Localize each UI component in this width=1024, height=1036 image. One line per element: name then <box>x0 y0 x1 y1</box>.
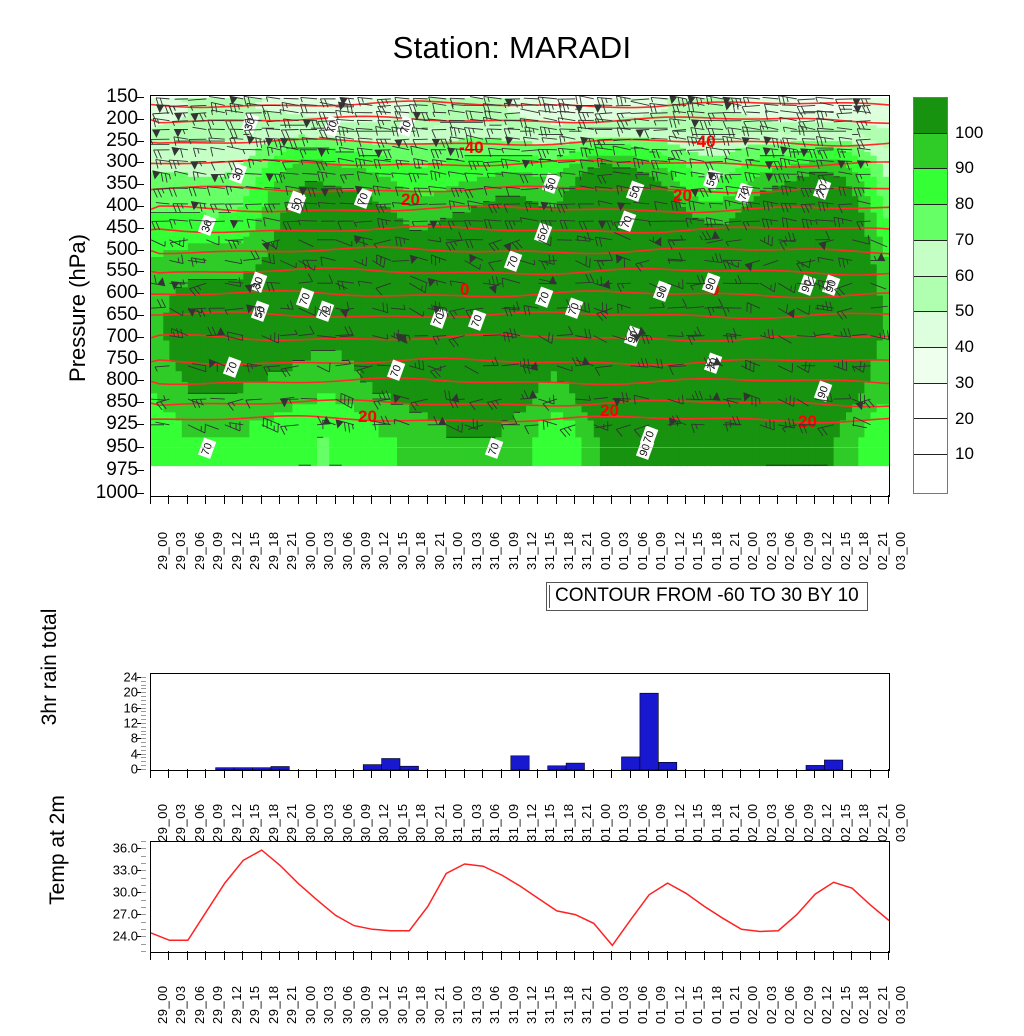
humidity-shade-cell <box>329 272 336 281</box>
humidity-shade-cell <box>280 287 287 296</box>
humidity-shade-cell <box>280 350 287 361</box>
humidity-shade-cell <box>317 279 324 288</box>
humidity-shade-cell <box>336 196 343 202</box>
humidity-shade-cell <box>477 237 484 245</box>
humidity-shade-cell <box>176 404 183 413</box>
humidity-shade-cell <box>415 322 422 332</box>
humidity-shade-cell <box>231 296 238 305</box>
humidity-shade-cell <box>538 437 545 466</box>
humidity-shade-cell <box>385 437 392 466</box>
humidity-shade-cell <box>452 257 459 265</box>
humidity-shade-cell <box>582 196 589 202</box>
humidity-shade-cell <box>249 224 256 231</box>
humidity-shade-cell <box>471 382 478 394</box>
humidity-shade-cell <box>495 371 502 383</box>
humidity-shade-cell <box>428 404 435 413</box>
humidity-shade-cell <box>219 196 226 202</box>
humidity-shade-cell <box>465 264 472 272</box>
humidity-shade-cell <box>446 230 453 237</box>
humidity-shade-cell <box>489 421 496 439</box>
humidity-shade-cell <box>440 341 447 352</box>
humidity-shade-cell <box>397 264 404 272</box>
humidity-shade-cell <box>348 341 355 352</box>
humidity-shade-cell <box>342 412 349 421</box>
humidity-shade-cell <box>163 196 170 202</box>
humidity-shade-cell <box>409 243 416 251</box>
humidity-shade-cell <box>231 331 238 342</box>
humidity-shade-cell <box>299 350 306 361</box>
humidity-shade-cell <box>526 341 533 352</box>
humidity-shade-cell <box>434 296 441 305</box>
humidity-shade-cell <box>366 250 373 258</box>
humidity-shade-cell <box>625 371 632 383</box>
humidity-shade-cell <box>483 382 490 394</box>
humidity-shade-cell <box>606 213 613 220</box>
humidity-shade-cell <box>354 213 361 220</box>
humidity-shade-cell <box>329 213 336 220</box>
humidity-shade-cell <box>348 272 355 281</box>
humidity-shade-cell <box>495 213 502 220</box>
humidity-shade-cell <box>459 257 466 265</box>
humidity-shade-cell <box>483 230 490 237</box>
humidity-shade-cell <box>286 296 293 305</box>
humidity-shade-cell <box>348 437 355 466</box>
humidity-shade-cell <box>169 230 176 237</box>
humidity-shade-cell <box>274 196 281 202</box>
humidity-shade-cell <box>280 279 287 288</box>
humidity-shade-cell <box>329 218 336 225</box>
humidity-shade-cell <box>280 243 287 251</box>
humidity-shade-cell <box>286 437 293 466</box>
humidity-shade-cell <box>354 322 361 332</box>
humidity-shade-cell <box>403 371 410 383</box>
humidity-shade-cell <box>569 218 576 225</box>
humidity-shade-cell <box>569 341 576 352</box>
humidity-shade-cell <box>372 230 379 237</box>
humidity-shade-cell <box>520 296 527 305</box>
humidity-shade-cell <box>403 382 410 394</box>
humidity-shade-cell <box>323 404 330 413</box>
humidity-shade-cell <box>397 421 404 439</box>
humidity-shade-cell <box>594 437 601 466</box>
humidity-shade-cell <box>280 230 287 237</box>
humidity-shade-cell <box>397 296 404 305</box>
humidity-shade-cell <box>231 382 238 394</box>
humidity-shade-cell <box>557 341 564 352</box>
humidity-shade-cell <box>569 257 576 265</box>
humidity-shade-cell <box>176 371 183 383</box>
humidity-shade-cell <box>151 304 158 314</box>
humidity-shade-cell <box>569 230 576 237</box>
humidity-shade-cell <box>157 371 164 383</box>
humidity-shade-cell <box>336 202 343 208</box>
humidity-shade-cell <box>219 243 226 251</box>
humidity-shade-cell <box>169 361 176 372</box>
humidity-shade-cell <box>372 437 379 466</box>
humidity-shade-cell <box>237 296 244 305</box>
humidity-shade-cell <box>182 296 189 305</box>
humidity-shade-cell <box>502 322 509 332</box>
humidity-shade-cell <box>311 382 318 394</box>
humidity-shade-cell <box>428 341 435 352</box>
humidity-shade-cell <box>655 224 662 231</box>
humidity-shade-cell <box>514 393 521 405</box>
humidity-shade-cell <box>551 264 558 272</box>
humidity-shade-cell <box>538 313 545 323</box>
humidity-shade-cell <box>655 350 662 361</box>
humidity-shade-cell <box>655 250 662 258</box>
humidity-shade-cell <box>575 243 582 251</box>
humidity-shade-cell <box>415 371 422 383</box>
humidity-shade-cell <box>262 404 269 413</box>
humidity-shade-cell <box>514 243 521 251</box>
humidity-shade-cell <box>256 382 263 394</box>
humidity-shade-cell <box>538 350 545 361</box>
humidity-shade-cell <box>422 350 429 361</box>
humidity-shade-cell <box>231 279 238 288</box>
humidity-shade-cell <box>354 279 361 288</box>
humidity-shade-cell <box>661 412 668 421</box>
humidity-shade-cell <box>434 382 441 394</box>
humidity-shade-cell <box>231 313 238 323</box>
humidity-shade-cell <box>643 237 650 245</box>
humidity-shade-cell <box>354 296 361 305</box>
humidity-shade-cell <box>372 279 379 288</box>
humidity-shade-cell <box>422 322 429 332</box>
humidity-shade-cell <box>649 412 656 421</box>
humidity-shade-cell <box>655 404 662 413</box>
humidity-shade-cell <box>409 371 416 383</box>
humidity-shade-cell <box>477 287 484 296</box>
humidity-shade-cell <box>440 230 447 237</box>
humidity-shade-cell <box>618 350 625 361</box>
humidity-shade-cell <box>169 437 176 466</box>
humidity-shade-cell <box>532 196 539 202</box>
humidity-shade-cell <box>631 296 638 305</box>
humidity-shade-cell <box>409 213 416 220</box>
humidity-shade-cell <box>495 421 502 439</box>
humidity-shade-cell <box>618 196 625 202</box>
humidity-shade-cell <box>151 421 158 439</box>
humidity-shade-cell <box>428 382 435 394</box>
humidity-shade-cell <box>489 230 496 237</box>
humidity-shade-cell <box>649 257 656 265</box>
humidity-shade-cell <box>206 313 213 323</box>
humidity-shade-cell <box>231 257 238 265</box>
humidity-shade-cell <box>428 230 435 237</box>
humidity-shade-cell <box>606 322 613 332</box>
humidity-shade-cell <box>612 207 619 214</box>
humidity-shade-cell <box>582 243 589 251</box>
humidity-shade-cell <box>366 371 373 383</box>
humidity-shade-cell <box>305 322 312 332</box>
humidity-shade-cell <box>385 230 392 237</box>
humidity-shade-cell <box>354 331 361 342</box>
humidity-shade-cell <box>483 287 490 296</box>
humidity-shade-cell <box>366 279 373 288</box>
humidity-shade-cell <box>415 404 422 413</box>
humidity-shade-cell <box>360 279 367 288</box>
humidity-shade-cell <box>366 393 373 405</box>
humidity-shade-cell <box>569 437 576 466</box>
humidity-shade-cell <box>237 243 244 251</box>
humidity-shade-cell <box>452 322 459 332</box>
humidity-shade-cell <box>182 224 189 231</box>
humidity-shade-cell <box>600 371 607 383</box>
humidity-shade-cell <box>600 437 607 466</box>
humidity-shade-cell <box>409 313 416 323</box>
humidity-shade-cell <box>366 313 373 323</box>
humidity-shade-cell <box>213 350 220 361</box>
humidity-shade-cell <box>354 272 361 281</box>
y-tick <box>136 493 144 494</box>
humidity-shade-cell <box>631 437 638 466</box>
humidity-shade-cell <box>336 341 343 352</box>
humidity-shade-cell <box>508 404 515 413</box>
humidity-shade-cell <box>465 213 472 220</box>
humidity-shade-cell <box>176 272 183 281</box>
humidity-shade-cell <box>188 243 195 251</box>
humidity-shade-cell <box>508 322 515 332</box>
humidity-shade-cell <box>557 313 564 323</box>
humidity-shade-cell <box>311 257 318 265</box>
humidity-shade-cell <box>348 371 355 383</box>
humidity-shade-cell <box>588 213 595 220</box>
humidity-shade-cell <box>422 237 429 245</box>
humidity-shade-cell <box>403 313 410 323</box>
humidity-shade-cell <box>194 350 201 361</box>
humidity-shade-cell <box>151 412 158 421</box>
humidity-shade-cell <box>286 243 293 251</box>
humidity-shade-cell <box>243 421 250 439</box>
humidity-shade-cell <box>612 243 619 251</box>
humidity-shade-cell <box>360 437 367 466</box>
humidity-shade-cell <box>274 421 281 439</box>
humidity-shade-cell <box>231 341 238 352</box>
humidity-shade-cell <box>317 382 324 394</box>
humidity-shade-cell <box>532 279 539 288</box>
humidity-shade-cell <box>299 243 306 251</box>
humidity-shade-cell <box>403 250 410 258</box>
humidity-shade-cell <box>649 393 656 405</box>
humidity-shade-cell <box>569 371 576 383</box>
humidity-shade-cell <box>237 350 244 361</box>
humidity-shade-cell <box>459 382 466 394</box>
humidity-shade-cell <box>329 382 336 394</box>
humidity-shade-cell <box>631 243 638 251</box>
humidity-shade-cell <box>151 322 158 332</box>
humidity-shade-cell <box>409 296 416 305</box>
humidity-shade-cell <box>213 371 220 383</box>
humidity-shade-cell <box>336 272 343 281</box>
humidity-shade-cell <box>606 243 613 251</box>
humidity-shade-cell <box>625 243 632 251</box>
humidity-shade-cell <box>385 341 392 352</box>
humidity-shade-cell <box>557 257 564 265</box>
humidity-shade-cell <box>643 250 650 258</box>
humidity-shade-cell <box>219 404 226 413</box>
humidity-shade-cell <box>582 437 589 466</box>
humidity-shade-cell <box>631 371 638 383</box>
humidity-shade-cell <box>182 272 189 281</box>
humidity-shade-cell <box>563 213 570 220</box>
humidity-shade-cell <box>274 272 281 281</box>
humidity-shade-cell <box>323 287 330 296</box>
humidity-shade-cell <box>434 264 441 272</box>
humidity-shade-cell <box>342 257 349 265</box>
humidity-shade-cell <box>575 279 582 288</box>
humidity-shade-cell <box>256 322 263 332</box>
humidity-shade-cell <box>459 264 466 272</box>
humidity-shade-cell <box>637 341 644 352</box>
humidity-shade-cell <box>397 313 404 323</box>
humidity-shade-cell <box>188 296 195 305</box>
humidity-shade-cell <box>286 341 293 352</box>
humidity-shade-cell <box>551 371 558 383</box>
humidity-shade-cell <box>225 382 232 394</box>
humidity-shade-cell <box>661 243 668 251</box>
humidity-shade-cell <box>508 393 515 405</box>
humidity-shade-cell <box>477 213 484 220</box>
humidity-shade-cell <box>618 243 625 251</box>
humidity-shade-cell <box>329 237 336 245</box>
humidity-shade-cell <box>311 350 318 361</box>
humidity-shade-cell <box>366 257 373 265</box>
humidity-shade-cell <box>280 264 287 272</box>
humidity-shade-cell <box>588 218 595 225</box>
humidity-shade-cell <box>329 257 336 265</box>
humidity-shade-cell <box>342 250 349 258</box>
humidity-shade-cell <box>631 304 638 314</box>
humidity-shade-cell <box>557 382 564 394</box>
humidity-shade-cell <box>434 350 441 361</box>
humidity-shade-cell <box>305 371 312 383</box>
humidity-shade-cell <box>502 213 509 220</box>
humidity-shade-cell <box>169 371 176 383</box>
humidity-shade-cell <box>151 313 158 323</box>
humidity-shade-cell <box>200 296 207 305</box>
humidity-shade-cell <box>661 213 668 220</box>
humidity-shade-cell <box>219 237 226 245</box>
humidity-shade-cell <box>366 382 373 394</box>
humidity-shade-cell <box>594 202 601 208</box>
humidity-shade-cell <box>163 331 170 342</box>
humidity-shade-cell <box>176 218 183 225</box>
humidity-shade-cell <box>643 202 650 208</box>
humidity-shade-cell <box>471 213 478 220</box>
humidity-shade-cell <box>551 243 558 251</box>
y-axis-label: 350 <box>106 173 138 195</box>
humidity-shade-cell <box>538 382 545 394</box>
humidity-shade-cell <box>249 257 256 265</box>
humidity-shade-cell <box>366 237 373 245</box>
humidity-shade-cell <box>625 313 632 323</box>
humidity-shade-cell <box>348 202 355 208</box>
humidity-shade-cell <box>649 272 656 281</box>
humidity-shade-cell <box>563 393 570 405</box>
humidity-shade-cell <box>459 196 466 202</box>
humidity-shade-cell <box>188 218 195 225</box>
humidity-shade-cell <box>655 272 662 281</box>
humidity-shade-cell <box>360 213 367 220</box>
humidity-shade-cell <box>336 361 343 372</box>
humidity-shade-cell <box>317 350 324 361</box>
humidity-shade-cell <box>551 230 558 237</box>
humidity-shade-cell <box>262 350 269 361</box>
humidity-shade-cell <box>151 243 158 251</box>
humidity-shade-cell <box>526 213 533 220</box>
humidity-shade-cell <box>569 264 576 272</box>
humidity-shade-cell <box>219 224 226 231</box>
humidity-shade-cell <box>200 322 207 332</box>
humidity-shade-cell <box>231 264 238 272</box>
humidity-shade-cell <box>268 230 275 237</box>
humidity-shade-cell <box>311 218 318 225</box>
humidity-shade-cell <box>557 331 564 342</box>
humidity-shade-cell <box>336 257 343 265</box>
humidity-shade-cell <box>594 350 601 361</box>
humidity-shade-cell <box>661 304 668 314</box>
humidity-shade-cell <box>520 350 527 361</box>
humidity-shade-cell <box>415 237 422 245</box>
humidity-shade-cell <box>311 243 318 251</box>
humidity-shade-cell <box>348 196 355 202</box>
humidity-shade-cell <box>569 393 576 405</box>
humidity-shade-cell <box>495 412 502 421</box>
humidity-shade-cell <box>213 196 220 202</box>
humidity-shade-cell <box>508 382 515 394</box>
humidity-shade-cell <box>262 371 269 383</box>
humidity-shade-cell <box>194 296 201 305</box>
humidity-shade-cell <box>354 382 361 394</box>
upper-air-cross-section-panel[interactable]: -40-402020002020203070703050705050507070… <box>150 95 890 497</box>
humidity-shade-cell <box>422 304 429 314</box>
humidity-shade-cell <box>274 207 281 214</box>
humidity-shade-cell <box>372 250 379 258</box>
humidity-shade-cell <box>249 243 256 251</box>
humidity-shade-cell <box>428 296 435 305</box>
humidity-shade-cell <box>612 296 619 305</box>
humidity-shade-cell <box>409 341 416 352</box>
humidity-shade-cell <box>379 341 386 352</box>
humidity-shade-cell <box>329 279 336 288</box>
humidity-shade-cell <box>428 421 435 439</box>
humidity-shade-cell <box>532 264 539 272</box>
humidity-shade-cell <box>323 382 330 394</box>
humidity-shade-cell <box>661 218 668 225</box>
humidity-shade-cell <box>452 296 459 305</box>
humidity-shade-cell <box>649 382 656 394</box>
y-tick <box>136 380 144 381</box>
humidity-shade-cell <box>305 404 312 413</box>
humidity-shade-cell <box>163 412 170 421</box>
humidity-shade-cell <box>274 213 281 220</box>
humidity-shade-cell <box>391 322 398 332</box>
humidity-shade-cell <box>637 279 644 288</box>
humidity-shade-cell <box>551 350 558 361</box>
humidity-shade-cell <box>379 350 386 361</box>
humidity-shade-cell <box>409 421 416 439</box>
humidity-shade-cell <box>637 296 644 305</box>
humidity-shade-cell <box>225 196 232 202</box>
humidity-shade-cell <box>329 224 336 231</box>
humidity-shade-cell <box>526 272 533 281</box>
humidity-shade-cell <box>366 437 373 466</box>
humidity-shade-cell <box>637 404 644 413</box>
humidity-shade-cell <box>397 341 404 352</box>
humidity-shade-cell <box>200 350 207 361</box>
humidity-shade-cell <box>323 196 330 202</box>
